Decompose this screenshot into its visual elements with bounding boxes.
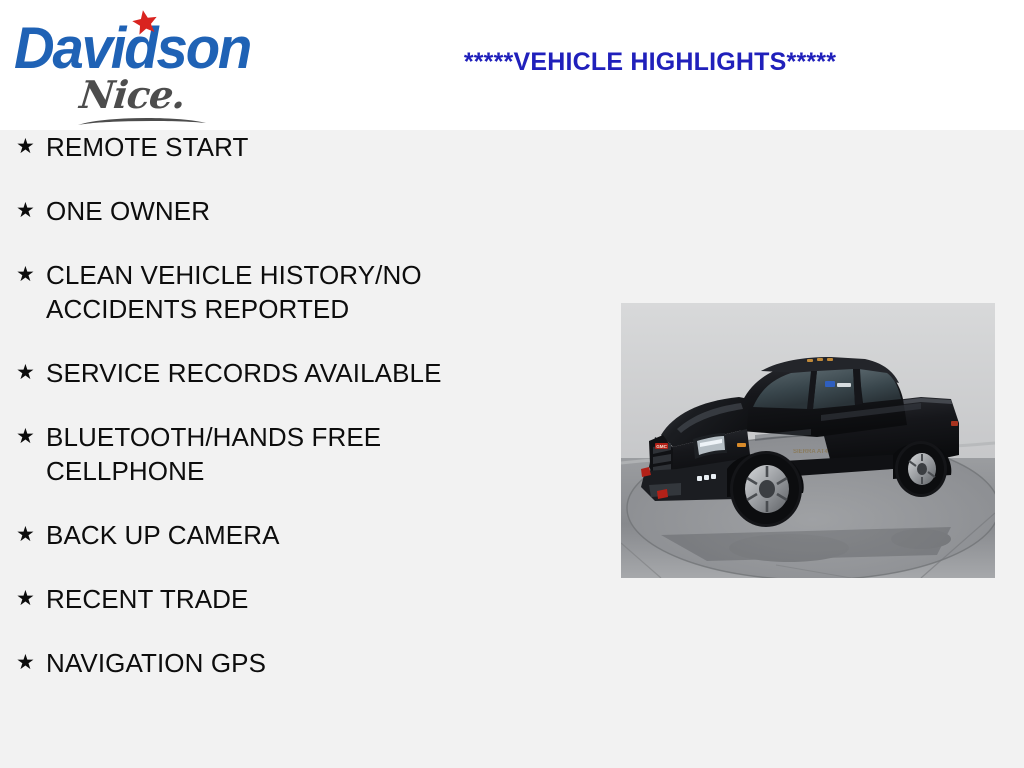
highlight-item-label: NAVIGATION GPS	[46, 646, 560, 680]
highlight-item: ★BACK UP CAMERA	[0, 518, 560, 552]
highlight-item-label: CLEAN VEHICLE HISTORY/NO ACCIDENTS REPOR…	[46, 258, 560, 326]
highlight-item: ★NAVIGATION GPS	[0, 646, 560, 680]
highlight-item: ★ONE OWNER	[0, 194, 560, 228]
dealer-logo: Davidson Nice.	[14, 6, 264, 124]
page-header: Davidson Nice. *****VEHICLE HIGHLIGHTS**…	[0, 0, 1024, 130]
highlight-item-label: BLUETOOTH/HANDS FREE CELLPHONE	[46, 420, 560, 488]
page-title: *****VEHICLE HIGHLIGHTS*****	[300, 48, 1000, 77]
star-bullet-icon: ★	[16, 518, 46, 552]
vehicle-photo: GMC SIERRA AT4	[621, 303, 995, 578]
highlight-item-label: RECENT TRADE	[46, 582, 560, 616]
highlight-item: ★CLEAN VEHICLE HISTORY/NO ACCIDENTS REPO…	[0, 258, 560, 326]
highlight-item-label: REMOTE START	[46, 130, 560, 164]
star-bullet-icon: ★	[16, 258, 46, 292]
svg-text:GMC: GMC	[656, 444, 667, 449]
highlight-item: ★REMOTE START	[0, 130, 560, 164]
star-icon	[130, 7, 160, 37]
star-bullet-icon: ★	[16, 582, 46, 616]
vehicle-highlights-list: ★REMOTE START★ONE OWNER★CLEAN VEHICLE HI…	[0, 130, 560, 710]
star-bullet-icon: ★	[16, 194, 46, 228]
highlight-item-label: ONE OWNER	[46, 194, 560, 228]
swoosh-underline-icon	[76, 114, 208, 128]
highlight-item: ★RECENT TRADE	[0, 582, 560, 616]
highlight-item: ★BLUETOOTH/HANDS FREE CELLPHONE	[0, 420, 560, 488]
svg-text:SIERRA AT4: SIERRA AT4	[793, 449, 828, 455]
highlight-item-label: BACK UP CAMERA	[46, 518, 560, 552]
dealer-logo-script: Nice.	[78, 76, 187, 114]
star-bullet-icon: ★	[16, 356, 46, 390]
star-bullet-icon: ★	[16, 130, 46, 164]
star-bullet-icon: ★	[16, 646, 46, 680]
highlight-item: ★SERVICE RECORDS AVAILABLE	[0, 356, 560, 390]
star-bullet-icon: ★	[16, 420, 46, 454]
highlight-item-label: SERVICE RECORDS AVAILABLE	[46, 356, 560, 390]
